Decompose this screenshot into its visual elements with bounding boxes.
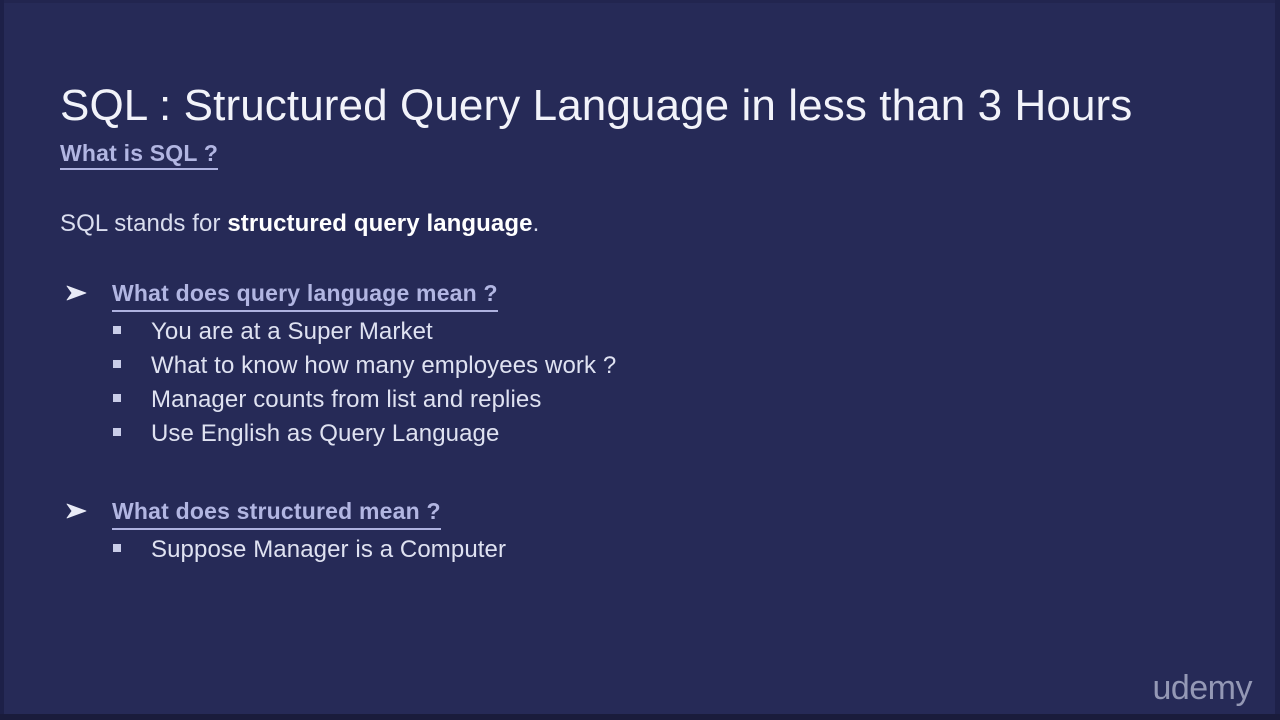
slide-body: What is SQL ? SQL stands for structured … [60, 140, 1230, 570]
arrow-bullet-icon [60, 499, 112, 519]
list-item: What to know how many employees work ? [60, 352, 1230, 386]
bullet-group-query-language: What does query language mean ? You are … [60, 280, 1230, 454]
bullet-group-title: What does structured mean ? [112, 498, 441, 530]
list-item: Suppose Manager is a Computer [60, 536, 1230, 570]
slide-title: SQL : Structured Query Language in less … [60, 81, 1132, 131]
sub-bullet-list: You are at a Super Market What to know h… [60, 318, 1230, 454]
arrow-bullet-icon [60, 281, 112, 301]
lead-suffix: . [533, 210, 540, 237]
slide-edge-bottom [0, 714, 1280, 720]
bullet-group-heading-row: What does structured mean ? [60, 498, 1230, 530]
slide-edge-left [0, 0, 4, 720]
section-heading-wrapper: What is SQL ? [60, 140, 1230, 170]
section-heading-what-is-sql: What is SQL ? [60, 140, 218, 170]
bullet-group-heading-row: What does query language mean ? [60, 280, 1230, 312]
bullet-group-title: What does query language mean ? [112, 280, 498, 312]
list-item-label: Suppose Manager is a Computer [151, 536, 506, 564]
slide-edge-right [1275, 0, 1280, 720]
lead-prefix: SQL stands for [60, 210, 227, 237]
list-item-label: Use English as Query Language [151, 420, 499, 448]
slide-edge-top [0, 0, 1280, 3]
lead-strong: structured query language [227, 210, 532, 237]
list-item-label: Manager counts from list and replies [151, 386, 541, 414]
list-item: Use English as Query Language [60, 420, 1230, 454]
sub-bullet-list: Suppose Manager is a Computer [60, 536, 1230, 570]
list-item-label: You are at a Super Market [151, 318, 433, 346]
list-item: You are at a Super Market [60, 318, 1230, 352]
presentation-slide: SQL : Structured Query Language in less … [0, 0, 1280, 720]
list-item-label: What to know how many employees work ? [151, 352, 616, 380]
bullet-group-structured: What does structured mean ? Suppose Mana… [60, 498, 1230, 570]
list-item: Manager counts from list and replies [60, 386, 1230, 420]
lead-paragraph: SQL stands for structured query language… [60, 210, 1230, 238]
udemy-watermark: udemy [1152, 669, 1252, 708]
